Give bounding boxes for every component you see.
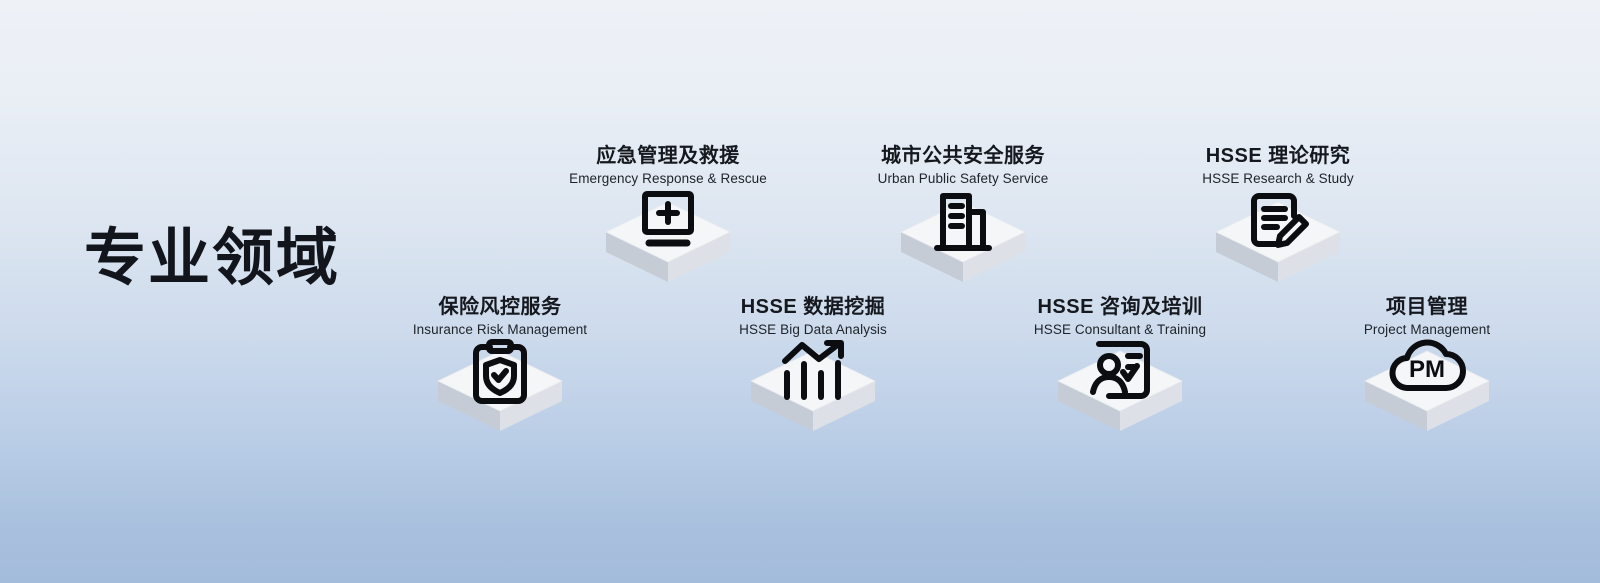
domain-item-emergency-response-rescue[interactable]: 应急管理及救援 Emergency Response & Rescue [518,145,818,186]
domain-item-title-en: Insurance Risk Management [350,322,650,337]
domain-item-title-cn: HSSE 理论研究 [1128,145,1428,168]
domain-item-podium-project-management[interactable]: PM [1277,345,1577,465]
domain-item-podium-hsse-consultant-training[interactable] [970,345,1270,465]
page-title: 专业领域 [84,228,340,290]
buildings-icon [931,190,995,259]
person-card-check-icon [1087,339,1153,406]
domain-item-title-en: Emergency Response & Rescue [518,171,818,186]
domain-item-title-cn: 项目管理 [1277,296,1577,319]
bar-chart-trend-icon [778,339,848,406]
cloud-pm-icon: PM [1388,339,1466,398]
professional-domains-banner: 专业领域 应急管理及救援 Emergency Response & Rescue… [0,0,1600,583]
document-pencil-icon [1245,190,1311,259]
domain-item-podium-insurance-risk-management[interactable] [350,345,650,465]
domain-item-title-cn: 保险风控服务 [350,296,650,319]
domain-item-hsse-research-study[interactable]: HSSE 理论研究 HSSE Research & Study [1128,145,1428,186]
svg-text:PM: PM [1409,356,1445,383]
domain-item-title-cn: 城市公共安全服务 [813,145,1113,168]
domain-item-title-en: HSSE Consultant & Training [970,322,1270,337]
domain-item-title-en: Project Management [1277,322,1577,337]
domain-item-title-en: Urban Public Safety Service [813,171,1113,186]
domain-item-title-en: HSSE Big Data Analysis [663,322,963,337]
monitor-plus-icon [636,190,700,257]
domain-item-insurance-risk-management[interactable]: 保险风控服务 Insurance Risk Management [350,296,650,337]
clipboard-shield-check-icon [470,339,530,412]
domain-item-urban-public-safety-service[interactable]: 城市公共安全服务 Urban Public Safety Service [813,145,1113,186]
domain-item-podium-hsse-big-data-analysis[interactable] [663,345,963,465]
domain-item-title-cn: 应急管理及救援 [518,145,818,168]
domain-item-project-management[interactable]: 项目管理 Project Management [1277,296,1577,337]
domain-item-title-en: HSSE Research & Study [1128,171,1428,186]
